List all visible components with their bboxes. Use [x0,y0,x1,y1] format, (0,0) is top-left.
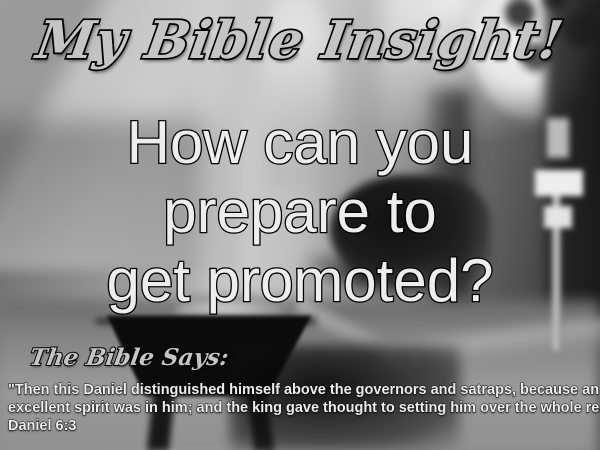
headline: How can you prepare to get promoted? [0,108,600,315]
headline-line-1: How can you [0,108,600,177]
slide-canvas: My Bible Insight! How can you prepare to… [0,0,600,450]
verse-reference: Daniel 6:3 [8,417,594,435]
verse-line-1: "Then this Daniel distinguished himself … [8,381,594,399]
headline-line-3: get promoted? [0,246,600,315]
bible-says-label: The Bible Says: [28,344,231,371]
verse-line-2: excellent spirit was in him; and the kin… [8,399,594,417]
headline-line-2: prepare to [0,177,600,246]
brand-title: My Bible Insight! [0,14,600,69]
verse-block: "Then this Daniel distinguished himself … [8,381,594,435]
